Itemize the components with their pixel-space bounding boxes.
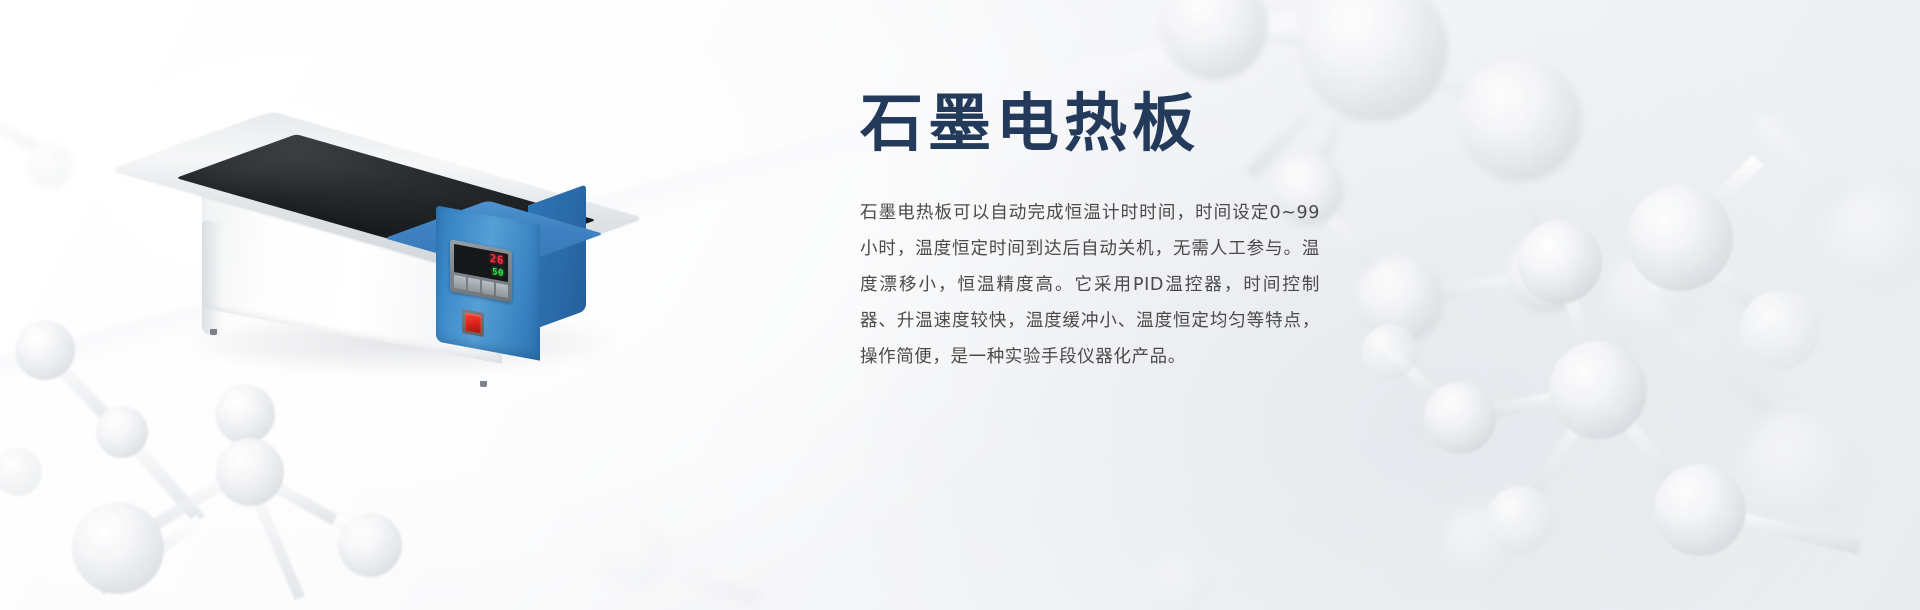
power-switch[interactable]: [462, 309, 484, 337]
product-foot-right: [480, 381, 487, 387]
product-banner: 26 50 石墨电热板 石墨电热板可以自动完成恒温计时时间，时间设定0~99小时…: [0, 0, 1920, 610]
pid-shift-button[interactable]: [468, 278, 480, 293]
banner-copy: 石墨电热板 石墨电热板可以自动完成恒温计时时间，时间设定0~99小时，温度恒定时…: [860, 90, 1320, 375]
pid-down-button[interactable]: [496, 283, 508, 298]
pid-up-button[interactable]: [482, 280, 494, 295]
page-title: 石墨电热板: [860, 90, 1320, 158]
product-foot-left: [210, 329, 217, 335]
product-photo: 26 50: [150, 95, 630, 385]
product-body-edge-highlight: [202, 219, 222, 338]
pid-set-button[interactable]: [454, 275, 466, 290]
power-switch-rocker: [465, 313, 481, 334]
product-description: 石墨电热板可以自动完成恒温计时时间，时间设定0~99小时，温度恒定时间到达后自动…: [860, 196, 1320, 375]
